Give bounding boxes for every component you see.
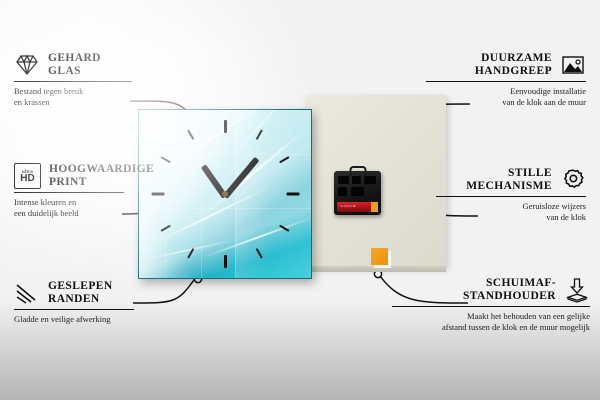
ultra-hd-main-label: HD (20, 174, 34, 184)
callout-geslepen-randen: GESLEPEN RANDEN Gladde en veilige afwerk… (14, 280, 134, 325)
callout-rule (14, 81, 132, 82)
callout-rule (14, 309, 134, 310)
callout-title-line1: HOOGWAARDIGE (49, 163, 154, 175)
clock-movement-module: ALKALINE (334, 171, 381, 215)
callout-desc-line2: en krassen (14, 97, 50, 107)
callout-title-line1: GEHARD (48, 52, 101, 64)
callout-title-line2: STANDHOUDER (463, 290, 556, 302)
callout-duurzame-handgreep: DUURZAME HANDGREEP Eenvoudige installati… (426, 52, 586, 108)
callout-desc-line1: Gladde en veilige afwerking (14, 314, 111, 324)
bevelled-edges-icon (14, 280, 40, 306)
press-down-pad-icon (564, 277, 590, 303)
callout-title-line1: SCHUIMAF- (486, 277, 556, 289)
callout-title-line1: STILLE (508, 167, 552, 179)
callout-title-line2: HANDGREEP (475, 65, 552, 77)
callout-desc-line1: Geruisloze wijzers (523, 201, 587, 211)
callout-title-line2: PRINT (49, 176, 87, 188)
callout-title-line1: DUURZAME (481, 52, 552, 64)
callout-rule (14, 192, 124, 193)
foam-spacer-pad (371, 248, 388, 265)
callout-title-line1: GESLEPEN (48, 280, 113, 292)
callout-desc-line2: afstand tussen de klok en de muur mogeli… (442, 322, 590, 332)
callout-title-line2: MECHANISME (466, 180, 552, 192)
callout-rule (426, 81, 586, 82)
diamond-icon (14, 52, 40, 78)
picture-frame-icon (560, 52, 586, 78)
battery: ALKALINE (337, 202, 378, 212)
callout-hoogwaardige-print: ultra HD HOOGWAARDIGE PRINT Intense kleu… (14, 163, 124, 219)
product-infographic: ALKALINE (0, 0, 600, 400)
callout-desc-line1: Eenvoudige installatie (510, 86, 586, 96)
callout-stille-mechanisme: STILLE MECHANISME Geruisloze wijzers van… (436, 167, 586, 223)
callout-desc-line2: een duidelijk beeld (14, 208, 79, 218)
callout-schuimafstandhouder: SCHUIMAF- STANDHOUDER Maakt het behouden… (392, 277, 590, 333)
callout-desc-line2: van de klok aan de muur (502, 97, 586, 107)
gear-icon (560, 167, 586, 193)
hanger-loop-icon (349, 166, 366, 176)
ultra-hd-icon: ultra HD (14, 163, 41, 189)
callout-rule (392, 306, 590, 307)
callout-desc-line2: van de klok (546, 212, 586, 222)
callout-desc-line1: Maakt het behouden van een gelijke (467, 311, 590, 321)
clock-center-pin (222, 191, 228, 197)
glass-clock-face (138, 109, 312, 279)
callout-rule (436, 196, 586, 197)
product-image: ALKALINE (138, 101, 346, 284)
callout-title-line2: RANDEN (48, 293, 100, 305)
callout-title-line2: GLAS (48, 65, 81, 77)
callout-desc-line1: Intense kleuren en (14, 197, 76, 207)
callout-desc-line1: Bestand tegen breuk (14, 86, 83, 96)
back-panel-edge (306, 266, 446, 272)
callout-gehard-glas: GEHARD GLAS Bestand tegen breuk en krass… (14, 52, 132, 108)
